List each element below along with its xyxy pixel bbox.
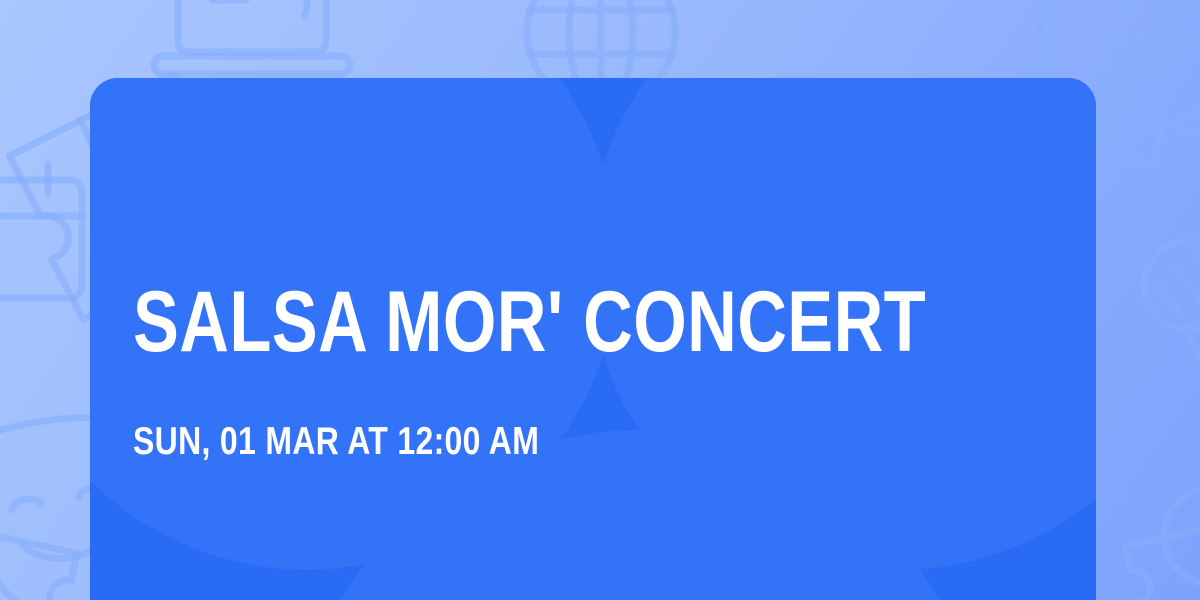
ticket-icon — [0, 526, 77, 600]
ticket-stub-icon — [1126, 522, 1200, 600]
event-datetime: SUN, 01 MAR AT 12:00 AM — [133, 419, 539, 465]
laptop-icon — [154, 0, 350, 74]
sparkle-icon — [1164, 68, 1200, 180]
event-banner: SALSA MOR' CONCERT SUN, 01 MAR AT 12:00 … — [0, 0, 1200, 600]
event-title: SALSA MOR' CONCERT — [133, 276, 926, 368]
music-note-icon — [1164, 488, 1200, 584]
calendar-icon — [0, 164, 82, 298]
card-content: SALSA MOR' CONCERT SUN, 01 MAR AT 12:00 … — [133, 78, 1056, 600]
microphone-icon — [1127, 224, 1200, 412]
event-card[interactable]: SALSA MOR' CONCERT SUN, 01 MAR AT 12:00 … — [90, 78, 1096, 600]
star-icon — [1128, 4, 1200, 76]
